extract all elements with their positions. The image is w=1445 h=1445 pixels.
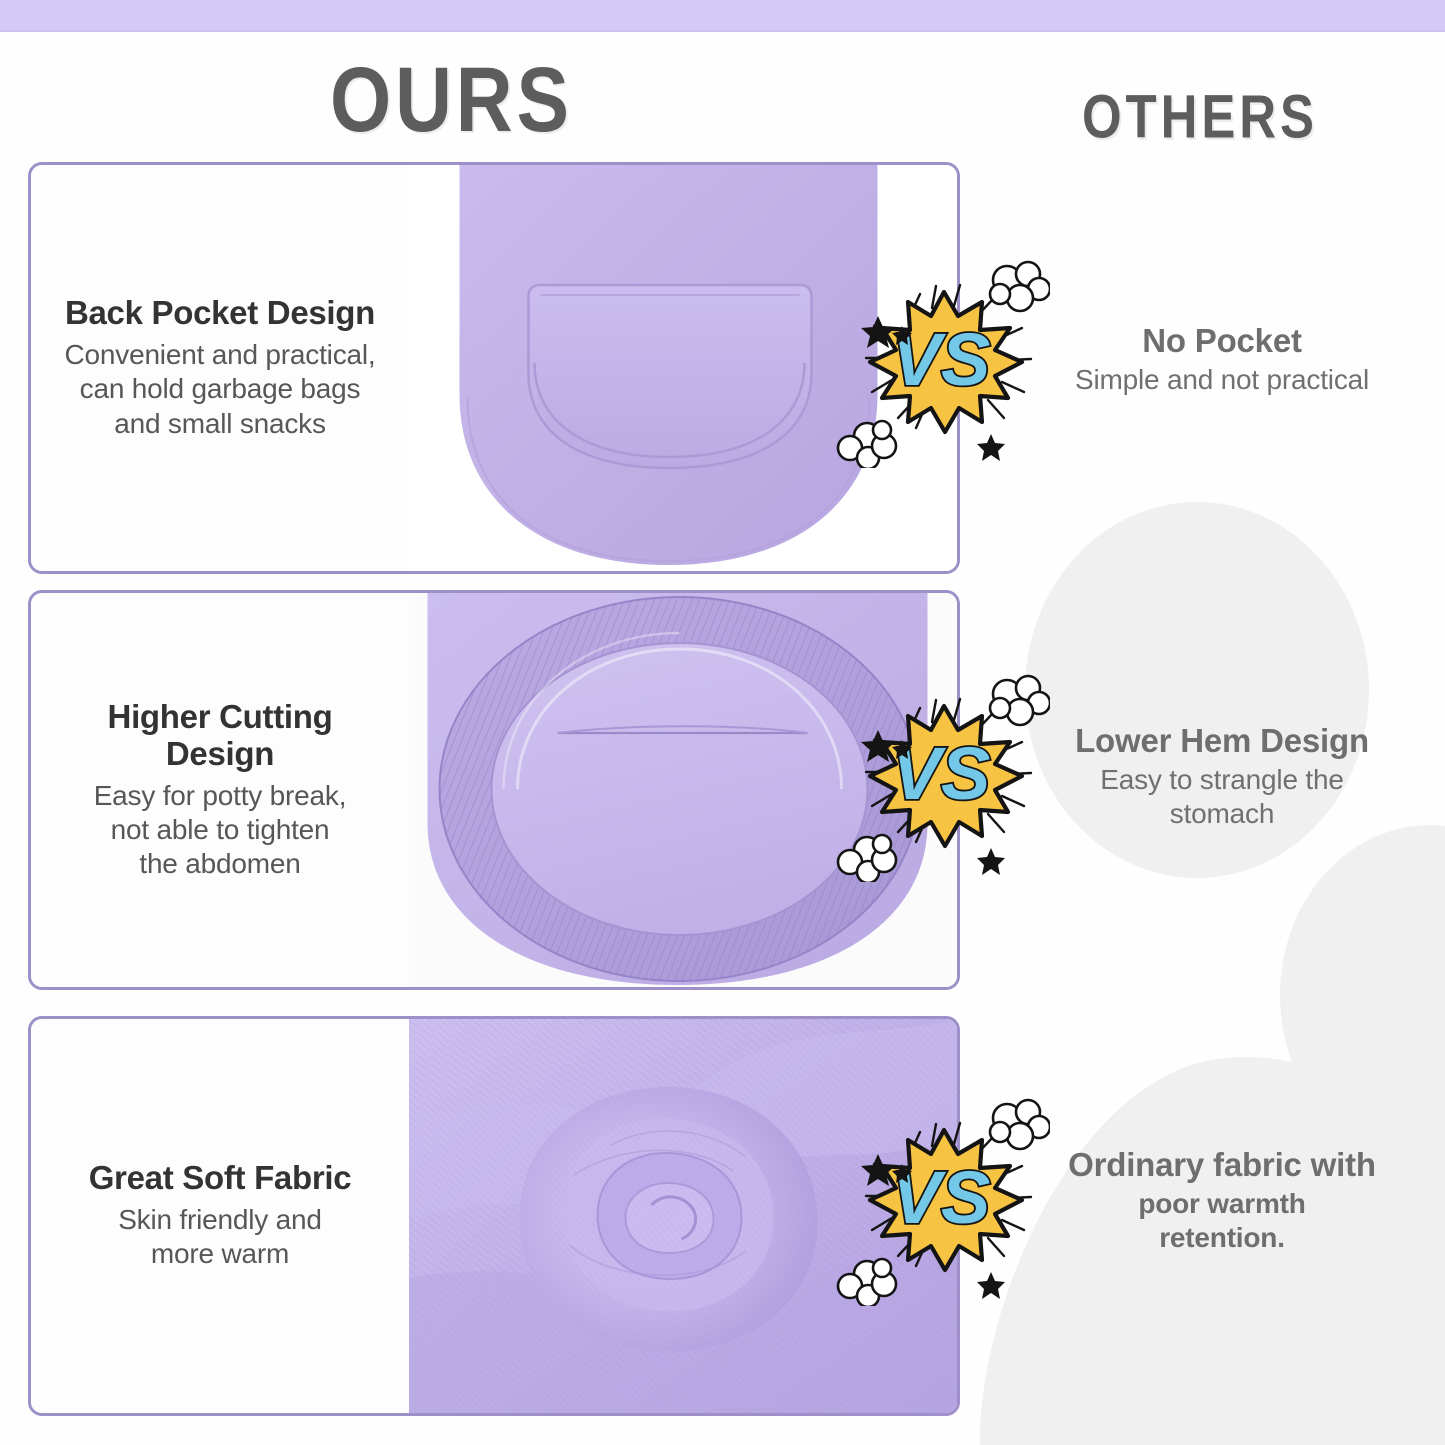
infographic-canvas: OURS OTHERS Back Pocket Design Convenien… xyxy=(0,0,1445,1445)
comparison-card-higher-cutting: Higher CuttingDesign Easy for potty brea… xyxy=(28,590,960,990)
ours-title-higher-cutting: Higher CuttingDesign xyxy=(108,699,333,773)
ours-title-soft-fabric: Great Soft Fabric xyxy=(89,1160,352,1197)
others-text-block-lower-hem: Lower Hem Design Easy to strangle thesto… xyxy=(1022,722,1422,830)
ours-subtitle-soft-fabric: Skin friendly andmore warm xyxy=(118,1203,322,1271)
others-title-no-pocket: No Pocket xyxy=(1022,322,1422,360)
page-title-others: OTHERS xyxy=(1082,82,1318,153)
others-subtitle-no-pocket: Simple and not practical xyxy=(1022,363,1422,397)
comparison-card-soft-fabric: Great Soft Fabric Skin friendly andmore … xyxy=(28,1016,960,1416)
vs-burst-icon: VS xyxy=(832,1096,1050,1306)
others-subtitle-lower-hem: Easy to strangle thestomach xyxy=(1022,763,1422,830)
vs-label: VS xyxy=(892,732,991,815)
vs-label: VS xyxy=(892,318,991,401)
others-subtitle-ordinary-fabric: poor warmthretention. xyxy=(1022,1187,1422,1254)
ours-text-block-higher-cutting: Higher CuttingDesign Easy for potty brea… xyxy=(31,593,409,987)
comparison-card-back-pocket: Back Pocket Design Convenient and practi… xyxy=(28,162,960,574)
others-text-block-no-pocket: No Pocket Simple and not practical xyxy=(1022,322,1422,397)
others-text-block-ordinary-fabric: Ordinary fabric with poor warmthretentio… xyxy=(1022,1146,1422,1254)
page-title-ours: OURS xyxy=(330,48,573,153)
vs-burst-icon: VS xyxy=(832,258,1050,468)
ours-text-block-soft-fabric: Great Soft Fabric Skin friendly andmore … xyxy=(31,1019,409,1413)
ours-subtitle-higher-cutting: Easy for potty break,not able to tighten… xyxy=(94,779,347,881)
others-title-lower-hem: Lower Hem Design xyxy=(1022,722,1422,760)
ours-text-block-back-pocket: Back Pocket Design Convenient and practi… xyxy=(31,165,409,571)
top-accent-bar xyxy=(0,0,1445,32)
vs-burst-icon: VS xyxy=(832,672,1050,882)
ours-subtitle-back-pocket: Convenient and practical,can hold garbag… xyxy=(65,338,376,440)
vs-label: VS xyxy=(892,1156,991,1239)
ours-title-back-pocket: Back Pocket Design xyxy=(65,295,375,332)
others-title-ordinary-fabric: Ordinary fabric with xyxy=(1022,1146,1422,1184)
